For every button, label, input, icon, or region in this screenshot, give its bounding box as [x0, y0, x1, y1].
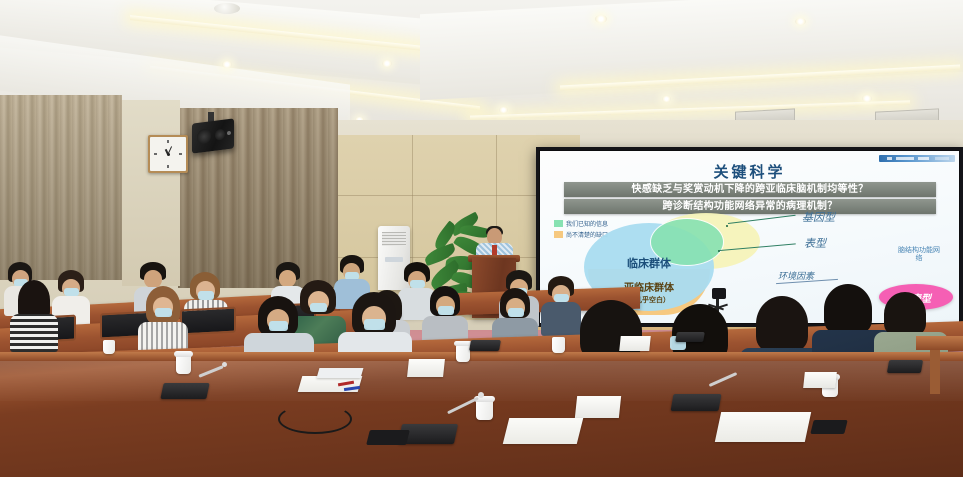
- tea-mug[interactable]: [552, 337, 565, 353]
- slide-title: 关键科学: [540, 161, 959, 182]
- curtain-shading: [0, 95, 122, 280]
- conference-room-photo: 关键科学 快感缺乏与奖赏动机下降的跨亚临床脑机制均等性？ 跨诊断结构功能网络异常…: [0, 0, 963, 477]
- slide-question-2: 跨诊断结构功能网络异常的病理机制？: [564, 199, 936, 214]
- downlight: [499, 107, 508, 113]
- name-card: [803, 372, 837, 388]
- downlight: [862, 95, 872, 102]
- tripod-camera[interactable]: [712, 288, 726, 299]
- mobile-phone[interactable]: [810, 420, 847, 434]
- wall-strip: [122, 100, 180, 286]
- table-edge: [0, 352, 963, 361]
- chair-back[interactable]: [180, 307, 236, 336]
- tea-mug[interactable]: [456, 345, 470, 362]
- legend-swatch-gap: [554, 231, 563, 238]
- legend-label-known: 我们已知的信息: [566, 219, 608, 228]
- document-sheet[interactable]: [715, 412, 811, 442]
- ac-grill: [382, 232, 406, 246]
- side-table-leg: [930, 350, 940, 394]
- document-sheet[interactable]: [503, 418, 583, 444]
- microphone-unit[interactable]: [469, 340, 501, 351]
- microphone-cable: [278, 404, 352, 434]
- name-card: [407, 359, 445, 377]
- annotation-genotype: 基因型: [802, 209, 835, 225]
- mobile-phone[interactable]: [366, 430, 410, 445]
- legend-swatch-known: [554, 220, 563, 227]
- microphone-head: [222, 362, 227, 367]
- microphone-unit[interactable]: [671, 394, 722, 411]
- annotation-brain-network: 脑结构功能网络: [895, 247, 943, 263]
- tea-mug-lid[interactable]: [174, 351, 193, 357]
- document-sheet[interactable]: [317, 368, 364, 378]
- downlight: [662, 96, 671, 102]
- venn-label-clinical: 临床群体: [584, 255, 714, 271]
- ceiling-speaker: [192, 118, 234, 153]
- slide-legend: 我们已知的信息 尚不清楚的缺口: [554, 219, 608, 239]
- slide-question-1: 快感缺乏与奖赏动机下降的跨亚临床脑机制均等性？: [564, 182, 936, 197]
- cove-light: [470, 100, 910, 119]
- microphone-unit[interactable]: [675, 332, 705, 342]
- wall-clock: [148, 135, 188, 173]
- microphone-unit[interactable]: [160, 383, 209, 399]
- tea-mug[interactable]: [176, 355, 191, 374]
- name-card: [575, 396, 621, 418]
- downlight: [382, 60, 392, 67]
- name-card: [619, 336, 651, 351]
- ac-display-panel: [385, 257, 403, 262]
- downlight: [222, 61, 232, 68]
- microphone-head: [478, 392, 484, 398]
- downlight: [595, 15, 607, 23]
- tea-mug[interactable]: [103, 340, 115, 354]
- downlight: [795, 18, 806, 25]
- side-table: [916, 336, 963, 350]
- annotation-phenotype: 表型: [804, 235, 826, 251]
- tea-mug[interactable]: [476, 400, 493, 420]
- smoke-detector-icon: [214, 3, 240, 14]
- microphone-unit[interactable]: [887, 360, 923, 373]
